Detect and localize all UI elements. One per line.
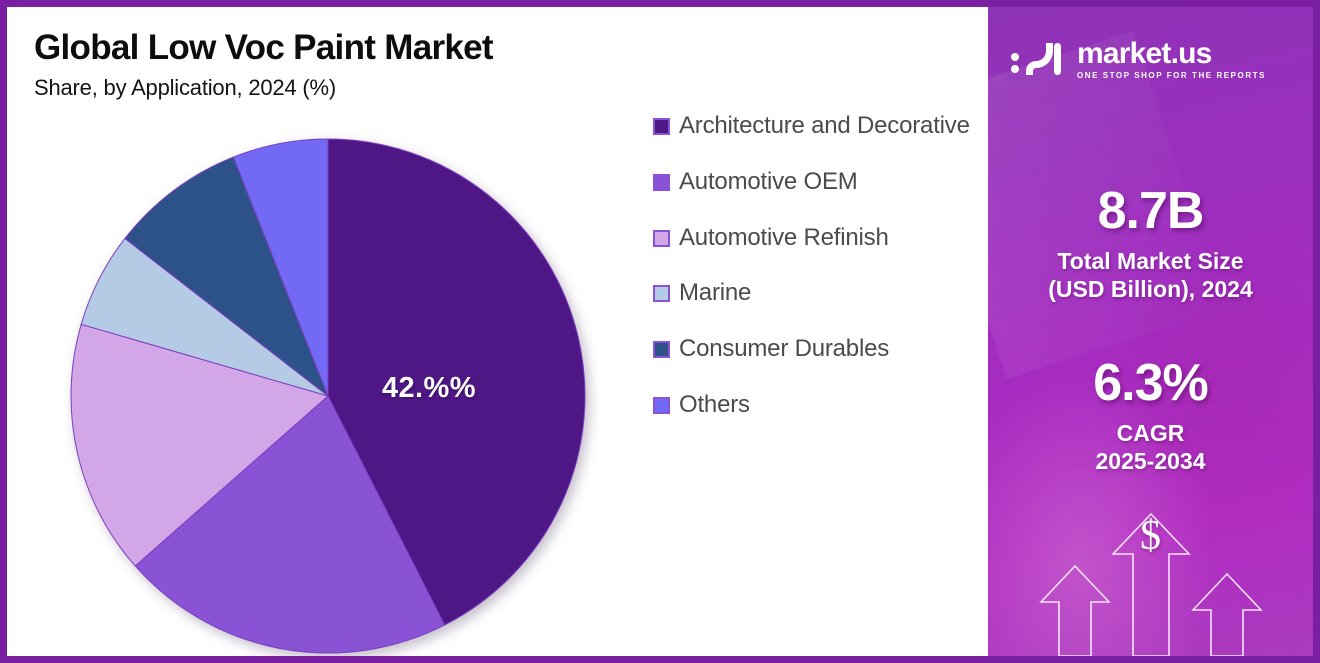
page-subtitle: Share, by Application, 2024 (%) bbox=[34, 75, 674, 101]
page-title: Global Low Voc Paint Market bbox=[34, 29, 674, 67]
brand-logo[interactable]: market.us ONE STOP SHOP FOR THE REPORTS bbox=[1010, 37, 1266, 81]
cagr-value: 6.3% bbox=[988, 357, 1313, 409]
legend-item-label: Automotive OEM bbox=[679, 167, 858, 197]
chart-panel: Global Low Voc Paint Market Share, by Ap… bbox=[7, 7, 988, 656]
market-us-logo-icon bbox=[1010, 37, 1068, 81]
cagr-caption-line2: 2025-2034 bbox=[988, 447, 1313, 475]
market-size-stat: 8.7B Total Market Size (USD Billion), 20… bbox=[988, 185, 1313, 303]
growth-arrows-icon bbox=[1031, 496, 1271, 656]
legend-item-others[interactable]: Others bbox=[653, 390, 973, 420]
market-size-value: 8.7B bbox=[988, 185, 1313, 237]
logo-tagline: ONE STOP SHOP FOR THE REPORTS bbox=[1077, 72, 1266, 80]
pie-chart-svg bbox=[64, 132, 592, 660]
market-size-caption-line1: Total Market Size bbox=[988, 247, 1313, 275]
legend-item-architecture-and-decorative[interactable]: Architecture and Decorative bbox=[653, 111, 973, 141]
legend-swatch-icon bbox=[653, 118, 670, 135]
legend-item-label: Automotive Refinish bbox=[679, 223, 889, 253]
legend-item-label: Marine bbox=[679, 278, 751, 308]
cagr-caption-line1: CAGR bbox=[988, 419, 1313, 447]
infographic-root: Global Low Voc Paint Market Share, by Ap… bbox=[0, 0, 1320, 663]
legend-item-label: Others bbox=[679, 390, 750, 420]
legend-swatch-icon bbox=[653, 285, 670, 302]
legend-swatch-icon bbox=[653, 341, 670, 358]
legend-item-label: Architecture and Decorative bbox=[679, 111, 970, 141]
legend-item-consumer-durables[interactable]: Consumer Durables bbox=[653, 334, 973, 364]
logo-name: market.us bbox=[1077, 39, 1266, 69]
legend-item-marine[interactable]: Marine bbox=[653, 278, 973, 308]
market-size-caption-line2: (USD Billion), 2024 bbox=[988, 275, 1313, 303]
legend-item-automotive-oem[interactable]: Automotive OEM bbox=[653, 167, 973, 197]
logo-text-block: market.us ONE STOP SHOP FOR THE REPORTS bbox=[1077, 39, 1266, 80]
legend-swatch-icon bbox=[653, 397, 670, 414]
chart-legend: Architecture and Decorative Automotive O… bbox=[653, 111, 973, 446]
legend-item-label: Consumer Durables bbox=[679, 334, 889, 364]
pie-chart: 42.%% bbox=[64, 132, 592, 660]
market-size-caption: Total Market Size (USD Billion), 2024 bbox=[988, 247, 1313, 303]
stats-panel: market.us ONE STOP SHOP FOR THE REPORTS … bbox=[988, 7, 1313, 656]
legend-swatch-icon bbox=[653, 174, 670, 191]
title-block: Global Low Voc Paint Market Share, by Ap… bbox=[34, 29, 674, 101]
cagr-stat: 6.3% CAGR 2025-2034 bbox=[988, 357, 1313, 475]
cagr-caption: CAGR 2025-2034 bbox=[988, 419, 1313, 475]
legend-swatch-icon bbox=[653, 230, 670, 247]
legend-item-automotive-refinish[interactable]: Automotive Refinish bbox=[653, 223, 973, 253]
